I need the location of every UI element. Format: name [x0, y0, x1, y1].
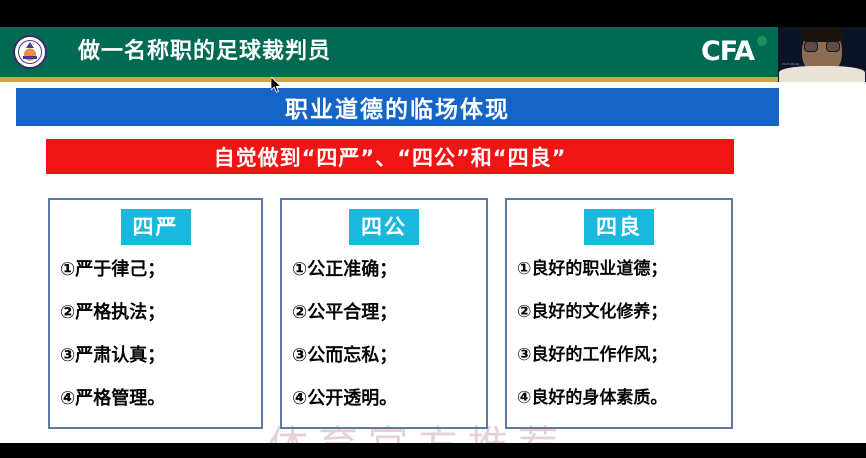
card-item-list: ①公正准确； ②公平合理； ③公而忘私； ④公开透明。 [282, 248, 486, 420]
list-item: ③良好的工作作风； [517, 334, 731, 377]
cfa-wordmark: CFA [701, 38, 754, 66]
emblem-star [26, 42, 34, 48]
letterbox-top [0, 0, 866, 27]
card-si-yan: 四严 ①严于律己； ②严格执法； ③严肃认真； ④严格管理。 [48, 198, 263, 429]
list-item: ②公平合理； [292, 291, 486, 334]
slide-header-band: 做一名称职的足球裁判员 CFA [0, 27, 866, 77]
speaker-glasses-icon [804, 41, 840, 52]
cfa-wordmark-text: CFA [701, 36, 754, 67]
glasses-left-lens [804, 41, 818, 52]
speaker-shoulders [779, 66, 865, 82]
list-item: ③严肃认真； [60, 334, 261, 377]
football-ball-icon [757, 36, 767, 46]
red-banner-text: 自觉做到“四严”、“四公”和“四良” [214, 142, 567, 172]
card-tab-label: 四公 [349, 209, 419, 245]
list-item: ②严格执法； [60, 291, 261, 334]
card-item-list: ①严于律己； ②严格执法； ③严肃认真； ④严格管理。 [50, 248, 261, 420]
letterbox-bottom [0, 443, 866, 458]
list-item: ④良好的身体素质。 [517, 377, 731, 420]
glasses-right-lens [826, 41, 840, 52]
list-item: ④公开透明。 [292, 377, 486, 420]
video-corner-label: 2023.09.09 [782, 62, 799, 66]
blue-banner-text: 职业道德的临场体现 [285, 90, 510, 124]
card-tab-label: 四严 [121, 209, 191, 245]
list-item: ①良好的职业道德； [517, 248, 731, 291]
header-gold-divider [0, 77, 866, 82]
emblem-bar [23, 56, 37, 59]
list-item: ①严于律己； [60, 248, 261, 291]
card-si-liang: 四良 ①良好的职业道德； ②良好的文化修养； ③良好的工作作风； ④良好的身体素… [505, 198, 733, 429]
page-title: 做一名称职的足球裁判员 [78, 27, 331, 77]
list-item: ④严格管理。 [60, 377, 261, 420]
cfa-emblem-icon [13, 35, 47, 69]
slide-canvas: 做一名称职的足球裁判员 CFA 职业道德的临场体现 自觉做到“四严”、“四公”和… [0, 27, 866, 443]
blue-title-banner: 职业道德的临场体现 [16, 88, 779, 126]
card-si-gong: 四公 ①公正准确； ②公平合理； ③公而忘私； ④公开透明。 [280, 198, 488, 429]
red-subtitle-banner: 自觉做到“四严”、“四公”和“四良” [46, 139, 734, 174]
list-item: ①公正准确； [292, 248, 486, 291]
list-item: ②良好的文化修养； [517, 291, 731, 334]
list-item: ③公而忘私； [292, 334, 486, 377]
card-item-list: ①良好的职业道德； ②良好的文化修养； ③良好的工作作风； ④良好的身体素质。 [507, 248, 731, 420]
card-tab-label: 四良 [584, 209, 654, 245]
content-card-group: 四严 ①严于律己； ②严格执法； ③严肃认真； ④严格管理。 四公 ①公正准确；… [0, 198, 779, 431]
screen-root: 做一名称职的足球裁判员 CFA 职业道德的临场体现 自觉做到“四严”、“四公”和… [0, 0, 866, 458]
